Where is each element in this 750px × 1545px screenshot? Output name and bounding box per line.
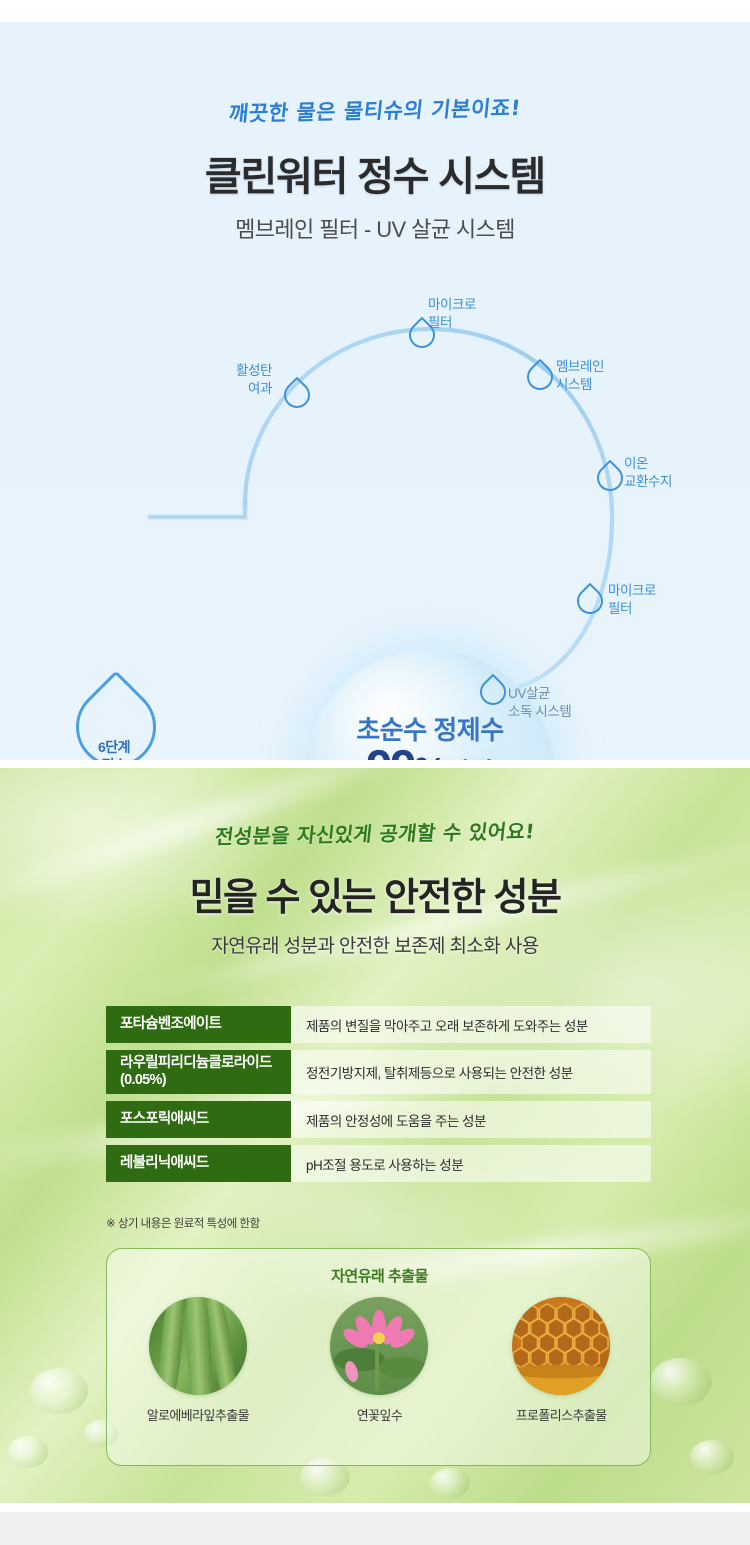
- ingredient-name: 라우릴피리디늄클로라이드: [120, 1055, 291, 1072]
- six-stage-line1: 6단계: [98, 739, 130, 755]
- six-stage-droplet-label: 6단계 정수: [72, 739, 156, 760]
- water-section-title: 클린워터 정수 시스템: [0, 144, 750, 202]
- water-droplet-texture: [650, 1358, 712, 1406]
- ingredient-desc-cell: 제품의 안정성에 도움을 주는 성분: [291, 1101, 651, 1138]
- stage-label-1-line2: 여과: [248, 381, 272, 396]
- ingredient-name: 레불리닉애씨드: [120, 1155, 291, 1172]
- extract-caption: 프로폴리스추출물: [481, 1405, 641, 1424]
- purity-number: 99: [366, 740, 414, 760]
- stage-label-1-line1: 활성탄: [236, 363, 272, 378]
- lotus-flower-photo: [330, 1297, 428, 1395]
- ingredient-name: 포타슘벤조에이트: [120, 1016, 291, 1033]
- stage-label-2-line2: 필터: [428, 315, 452, 330]
- stage-label-3: 멤브레인 시스템: [556, 358, 666, 394]
- list-item: 알로에베라잎추출물: [118, 1297, 278, 1424]
- ingredient-name-cell: 포스포릭애씨드: [106, 1101, 291, 1138]
- stage-label-4-line1: 이온: [624, 456, 648, 471]
- ingredient-name-cell: 포타슘벤조에이트: [106, 1006, 291, 1043]
- water-droplet-texture: [430, 1468, 470, 1498]
- water-droplet-texture: [690, 1440, 734, 1474]
- purification-flow-diagram: 초순수 정제수 99%이상 6단계 정수 활성탄 여과 마이크로 필터: [0, 267, 750, 747]
- aloe-leaf-photo: [149, 1297, 247, 1395]
- stage-label-4-line2: 교환수지: [624, 474, 672, 489]
- stage-label-6-line2: 소독 시스템: [508, 704, 571, 719]
- table-row: 라우릴피리디늄클로라이드 (0.05%) 정전기방지제, 탈취제등으로 사용되는…: [106, 1050, 651, 1094]
- ingredients-table: 포타슘벤조에이트 제품의 변질을 막아주고 오래 보존하게 도와주는 성분 라우…: [106, 1006, 651, 1189]
- stage-label-6: UV살균 소독 시스템: [508, 685, 648, 721]
- ingredient-concentration: (0.05%): [120, 1072, 291, 1089]
- water-droplet-texture: [30, 1368, 88, 1414]
- green-section-title: 믿을 수 있는 안전한 성분: [0, 866, 750, 921]
- ingredient-name: 포스포릭애씨드: [120, 1111, 291, 1128]
- purity-suffix: 이상: [444, 758, 494, 760]
- green-section-subtitle: 자연유래 성분과 안전한 보존제 최소화 사용: [0, 931, 750, 958]
- stage-label-1: 활성탄 여과: [168, 362, 272, 398]
- ingredients-footnote: ※ 상기 내용은 원료적 특성에 한함: [106, 1215, 260, 1231]
- natural-extracts-title: 자연유래 추출물: [107, 1265, 651, 1286]
- stage-label-5-line1: 마이크로: [608, 583, 656, 598]
- stage-label-3-line2: 시스템: [556, 377, 592, 392]
- table-row: 포스포릭애씨드 제품의 안정성에 도움을 주는 성분: [106, 1101, 651, 1138]
- ingredient-name-cell: 레불리닉애씨드: [106, 1145, 291, 1182]
- ingredient-name-cell: 라우릴피리디늄클로라이드 (0.05%): [106, 1050, 291, 1094]
- stage-label-3-line1: 멤브레인: [556, 359, 604, 374]
- clean-water-system-section: 깨끗한 물은 물티슈의 기본이죠! 클린워터 정수 시스템 멤브레인 필터 - …: [0, 22, 750, 760]
- water-droplet-texture: [8, 1436, 48, 1468]
- honeycomb-photo: [512, 1297, 610, 1395]
- natural-extracts-list: 알로에베라잎추출물: [107, 1297, 651, 1424]
- table-row: 레불리닉애씨드 pH조절 용도로 사용하는 성분: [106, 1145, 651, 1182]
- extract-caption: 알로에베라잎추출물: [118, 1405, 278, 1424]
- ingredient-desc-cell: 정전기방지제, 탈취제등으로 사용되는 안전한 성분: [291, 1050, 651, 1094]
- list-item: 프로폴리스추출물: [481, 1297, 641, 1424]
- purity-value: 99%이상: [305, 743, 555, 760]
- green-handwritten-tagline: 전성분을 자신있게 공개할 수 있어요!: [0, 811, 750, 853]
- percent-symbol: %: [414, 750, 444, 760]
- stage-label-5-line2: 필터: [608, 601, 632, 616]
- stage-label-2-line1: 마이크로: [428, 297, 476, 312]
- water-handwritten-tagline: 깨끗한 물은 물티슈의 기본이죠!: [0, 87, 750, 133]
- list-item: 연꽃잎수: [299, 1297, 459, 1424]
- ingredient-desc-cell: 제품의 변질을 막아주고 오래 보존하게 도와주는 성분: [291, 1006, 651, 1043]
- stage-label-4: 이온 교환수지: [624, 455, 736, 491]
- natural-extracts-card: 자연유래 추출물 알로에베라잎추출물: [106, 1248, 651, 1466]
- stage-label-5: 마이크로 필터: [608, 582, 718, 618]
- page-bottom-spacer: [0, 1512, 750, 1545]
- ingredient-desc-cell: pH조절 용도로 사용하는 성분: [291, 1145, 651, 1182]
- product-detail-page: 깨끗한 물은 물티슈의 기본이죠! 클린워터 정수 시스템 멤브레인 필터 - …: [0, 0, 750, 1545]
- safe-ingredients-section: 전성분을 자신있게 공개할 수 있어요! 믿을 수 있는 안전한 성분 자연유래…: [0, 768, 750, 1503]
- extract-caption: 연꽃잎수: [299, 1405, 459, 1424]
- water-section-subtitle: 멤브레인 필터 - UV 살균 시스템: [0, 212, 750, 244]
- six-stage-line2: 정수: [102, 757, 127, 761]
- stage-label-6-line1: UV살균: [508, 686, 550, 701]
- stage-label-2: 마이크로 필터: [428, 296, 538, 332]
- table-row: 포타슘벤조에이트 제품의 변질을 막아주고 오래 보존하게 도와주는 성분: [106, 1006, 651, 1043]
